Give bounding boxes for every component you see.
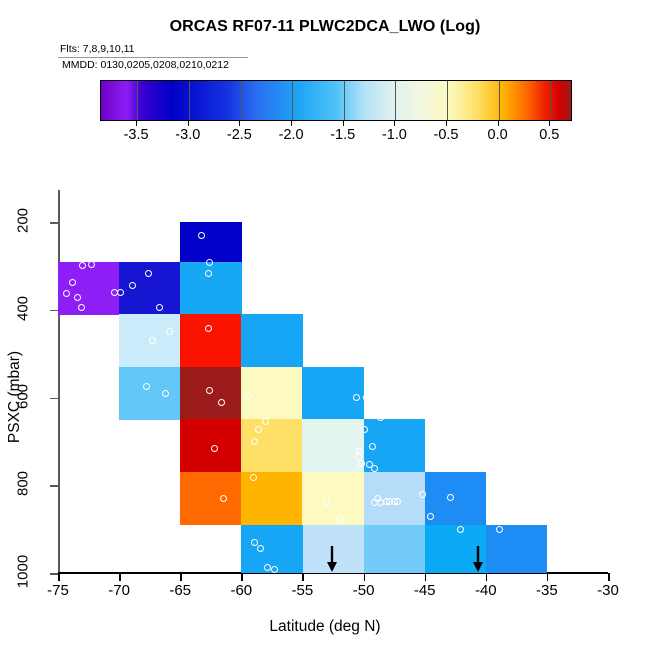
colorbar-tick-label: -3.0 — [175, 127, 200, 143]
heatmap-cell — [302, 419, 364, 472]
heatmap-cell — [119, 367, 181, 420]
colorbar-tick-label: -0.5 — [434, 127, 459, 143]
data-point — [78, 304, 85, 311]
y-axis-tick-label: 1000 — [15, 549, 32, 595]
data-point — [117, 289, 124, 296]
colorbar-tick-label: -3.5 — [124, 127, 149, 143]
x-axis-tick-label: -60 — [230, 582, 252, 599]
heatmap-cell — [425, 472, 487, 525]
heatmap-cell — [58, 262, 120, 315]
colorbar-tick — [394, 121, 395, 126]
data-point — [205, 325, 212, 332]
x-axis-tick-label: -30 — [597, 582, 619, 599]
colorbar-divider — [344, 81, 345, 120]
x-axis-tick-label: -75 — [47, 582, 69, 599]
colorbar-tick-label: -1.5 — [330, 127, 355, 143]
colorbar-divider — [499, 81, 500, 120]
colorbar-strip — [100, 80, 572, 121]
heatmap-cell — [241, 314, 303, 367]
data-point — [198, 232, 205, 239]
heatmap-cells — [58, 222, 608, 573]
colorbar-tick — [343, 121, 344, 126]
data-point — [255, 426, 262, 433]
x-axis-tick-label: -65 — [169, 582, 191, 599]
y-axis-tick — [50, 485, 58, 487]
data-point — [353, 394, 360, 401]
data-point — [487, 498, 494, 505]
colorbar-tick-label: -2.0 — [279, 127, 304, 143]
data-point — [427, 513, 434, 520]
y-axis-title: PSXC (mbar) — [6, 332, 24, 462]
data-point — [206, 259, 213, 266]
x-axis-tick — [302, 573, 304, 581]
x-axis-tick-label: -45 — [414, 582, 436, 599]
data-point — [166, 328, 173, 335]
colorbar-tick — [188, 121, 189, 126]
data-point — [361, 426, 368, 433]
colorbar-tick-label: -1.0 — [382, 127, 407, 143]
x-axis-tick — [364, 573, 366, 581]
colorbar-divider — [395, 81, 396, 120]
colorbar-tick-label: 0.0 — [488, 127, 508, 143]
x-axis-tick — [241, 573, 243, 581]
y-axis-tick-label: 400 — [15, 285, 32, 331]
y-axis-tick-label: 200 — [15, 198, 32, 244]
data-point — [162, 390, 169, 397]
arrow-down-icon — [325, 545, 339, 573]
data-point — [377, 414, 384, 421]
colorbar-divider — [137, 81, 138, 120]
colorbar-divider — [550, 81, 551, 120]
heatmap-cell — [486, 525, 548, 573]
heatmap-cell — [241, 419, 303, 472]
data-point — [457, 526, 464, 533]
page-title: ORCAS RF07-11 PLWC2DCA_LWO (Log) — [0, 18, 650, 36]
data-point — [143, 383, 150, 390]
x-axis-tick — [58, 573, 60, 581]
data-point — [366, 393, 373, 400]
data-point — [358, 460, 365, 467]
colorbar-divider — [189, 81, 190, 120]
x-axis-tick — [608, 573, 610, 581]
x-axis-tick — [425, 573, 427, 581]
data-point — [447, 494, 454, 501]
colorbar-tick — [136, 121, 137, 126]
colorbar-tick — [446, 121, 447, 126]
colorbar-tick-label: -2.5 — [227, 127, 252, 143]
data-point — [336, 515, 343, 522]
x-axis-tick-label: -70 — [108, 582, 130, 599]
y-axis-tick — [50, 310, 58, 312]
colorbar-divider — [447, 81, 448, 120]
data-point — [271, 566, 278, 573]
x-axis-tick — [547, 573, 549, 581]
x-axis-tick-label: -40 — [475, 582, 497, 599]
x-axis-tick — [486, 573, 488, 581]
heatmap-cell — [364, 525, 426, 573]
data-point — [63, 290, 70, 297]
x-axis-tick — [180, 573, 182, 581]
data-point — [264, 564, 271, 571]
colorbar-tick — [291, 121, 292, 126]
heatmap-cell — [180, 314, 242, 367]
arrow-down-icon — [471, 545, 485, 573]
x-axis-tick — [119, 573, 121, 581]
y-axis-tick-label: 800 — [15, 461, 32, 507]
colorbar-divider — [292, 81, 293, 120]
data-point — [369, 443, 376, 450]
data-point — [69, 279, 76, 286]
data-point — [211, 445, 218, 452]
plot-area — [58, 222, 608, 573]
heatmap-cell — [180, 472, 242, 525]
data-point — [156, 304, 163, 311]
x-axis-tick-label: -55 — [292, 582, 314, 599]
plot-page: ORCAS RF07-11 PLWC2DCA_LWO (Log) Flts: 7… — [0, 0, 650, 650]
x-axis-tick-label: -35 — [536, 582, 558, 599]
colorbar-tick-label: 0.5 — [539, 127, 559, 143]
heatmap-cell — [302, 472, 364, 525]
data-point — [220, 495, 227, 502]
heatmap-cell — [180, 262, 242, 315]
colorbar-divider — [240, 81, 241, 120]
x-axis-tick-label: -50 — [353, 582, 375, 599]
colorbar-gradient — [101, 81, 571, 120]
flights-label: Flts: 7,8,9,10,11 — [60, 43, 135, 55]
heatmap-cell — [180, 222, 242, 262]
x-axis-title: Latitude (deg N) — [0, 618, 650, 636]
colorbar: -3.5-3.0-2.5-2.0-1.5-1.0-0.50.00.5 — [100, 80, 572, 125]
data-point — [250, 474, 257, 481]
y-axis-tick — [50, 398, 58, 400]
colorbar-tick — [498, 121, 499, 126]
y-axis-tick — [50, 222, 58, 224]
data-point — [496, 526, 503, 533]
dates-label: MMDD: 0130,0205,0208,0210,0212 — [62, 59, 229, 71]
data-point — [88, 261, 95, 268]
colorbar-tick — [239, 121, 240, 126]
colorbar-tick — [549, 121, 550, 126]
data-point — [245, 392, 252, 399]
data-point — [149, 337, 156, 344]
y-axis-tick — [50, 573, 58, 575]
